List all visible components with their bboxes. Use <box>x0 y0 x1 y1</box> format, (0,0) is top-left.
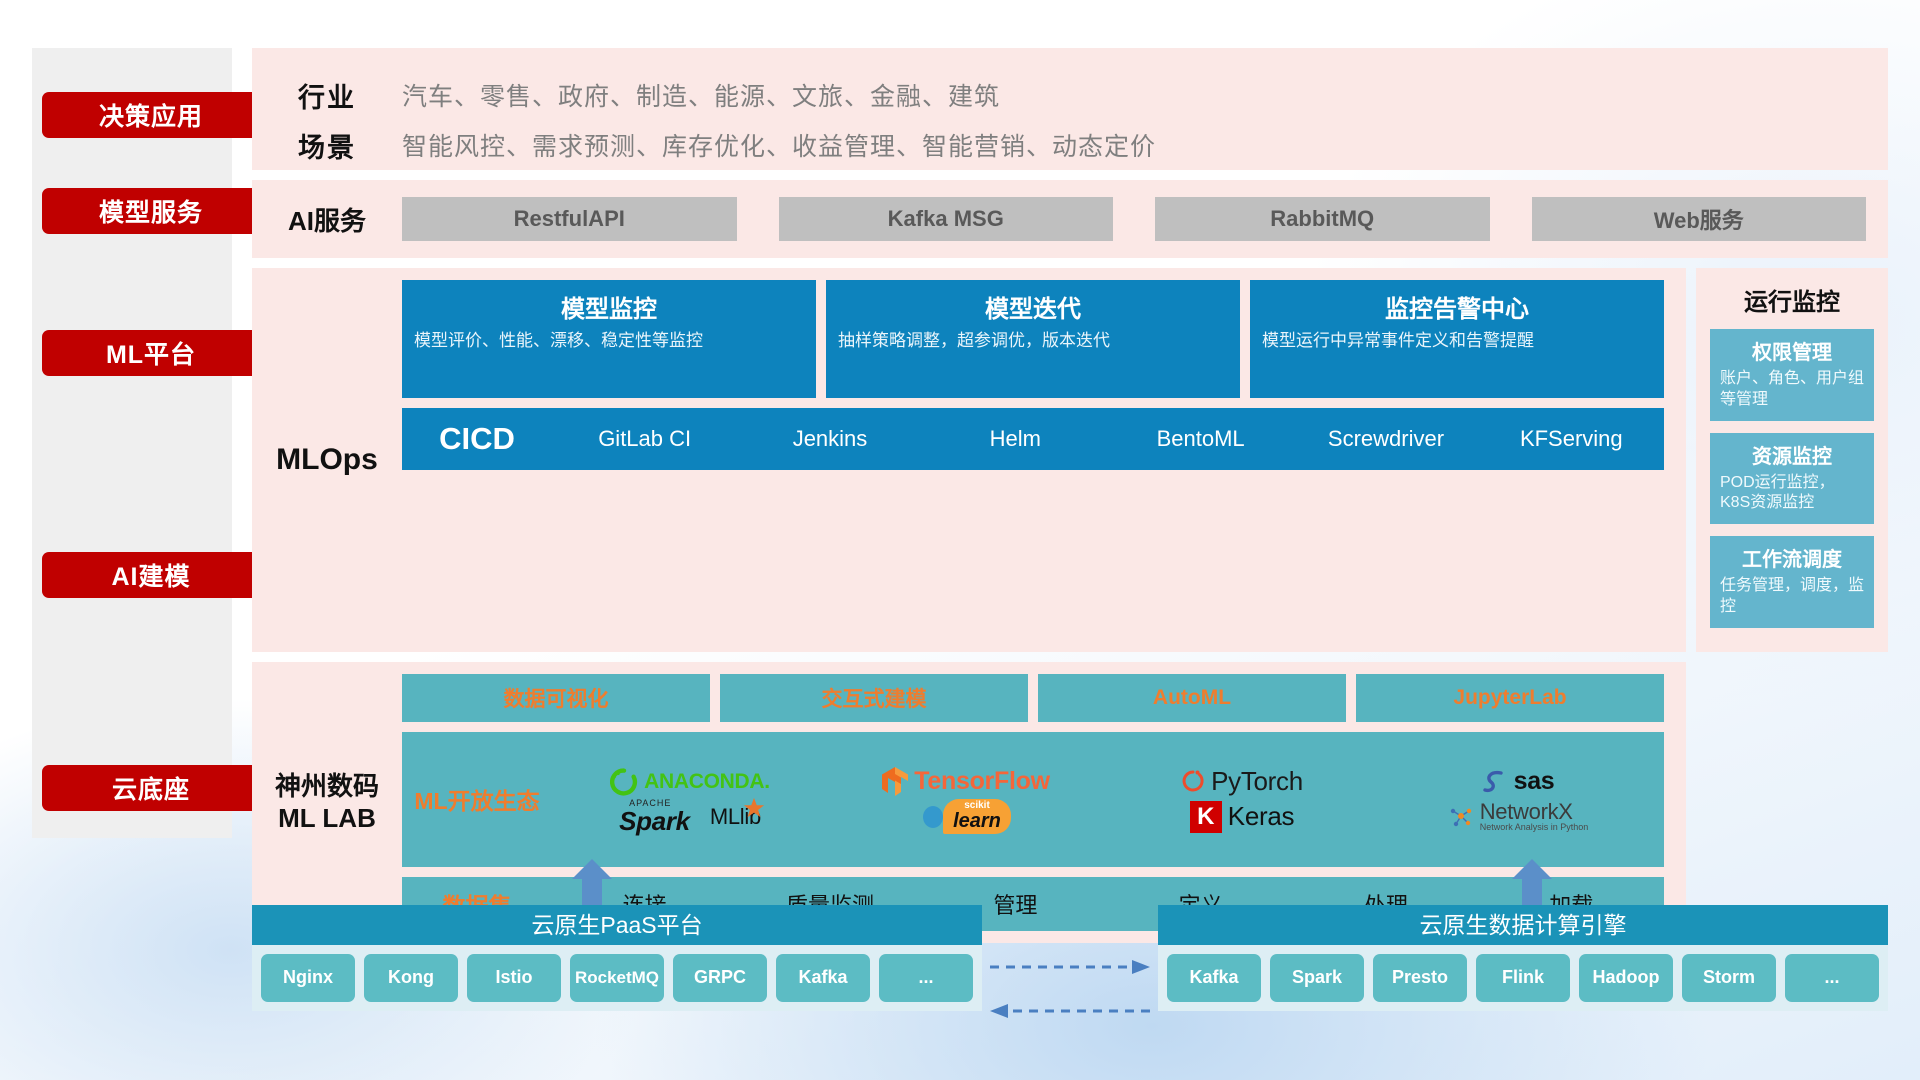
rail-tag-cloud-base[interactable]: 云底座 <box>42 765 260 811</box>
diagram-canvas: 决策应用 模型服务 ML平台 AI建模 云底座 行业 汽车、零售、政府、制造、能… <box>0 0 1920 1080</box>
tensorflow-logo: TensorFlow <box>882 767 1049 797</box>
cicd-item-jenkins[interactable]: Jenkins <box>737 408 922 455</box>
anaconda-logo: ANACONDA. <box>610 768 770 796</box>
chip-istio[interactable]: Istio <box>467 954 561 1002</box>
ai-service-list: RestfulAPI Kafka MSG RabbitMQ Web服务 <box>402 197 1888 241</box>
mlops-card-model-monitoring[interactable]: 模型监控 模型评价、性能、漂移、稳定性等监控 <box>402 280 816 398</box>
data-engine-title: 云原生数据计算引擎 <box>1158 905 1888 945</box>
runtime-monitor-title: 运行监控 <box>1710 282 1874 317</box>
pytorch-logo-text: PyTorch <box>1211 766 1303 797</box>
mlops-card-model-iteration[interactable]: 模型迭代 抽样策略调整，超参调优，版本迭代 <box>826 280 1240 398</box>
ecosystem-label: ML开放生态 <box>402 782 552 816</box>
tool-interactive-modeling[interactable]: 交互式建模 <box>720 674 1028 722</box>
spark-logo-text: Spark <box>619 808 690 834</box>
ai-service-label: AI服务 <box>252 201 402 238</box>
chip-flink[interactable]: Flink <box>1476 954 1570 1002</box>
scenario-row: 场景 智能风控、需求预测、库存优化、收益管理、智能营销、动态定价 <box>252 120 1888 170</box>
service-web[interactable]: Web服务 <box>1532 197 1867 241</box>
sas-mark-icon <box>1482 768 1508 796</box>
rail-tag-label: 决策应用 <box>99 97 203 133</box>
sas-logo-text: sas <box>1514 767 1555 796</box>
arrow-up-icon <box>570 857 614 905</box>
tool-jupyterlab[interactable]: JupyterLab <box>1356 674 1664 722</box>
keras-mark-icon: K <box>1190 801 1222 833</box>
runtime-monitor-panel: 运行监控 权限管理 账户、角色、用户组等管理 资源监控 POD运行监控，K8S资… <box>1696 268 1888 652</box>
card-desc: 账户、角色、用户组等管理 <box>1720 369 1864 411</box>
ml-lab-tool-list: 数据可视化 交互式建模 AutoML JupyterLab <box>402 674 1664 722</box>
card-desc: 模型评价、性能、漂移、稳定性等监控 <box>414 330 804 353</box>
card-title: 模型迭代 <box>838 289 1228 324</box>
service-restful-api[interactable]: RestfulAPI <box>402 197 737 241</box>
paas-chip-list: Nginx Kong Istio RocketMQ GRPC Kafka ... <box>252 945 982 1011</box>
arrow-up-icon <box>1510 857 1554 905</box>
data-engine-chip-list: Kafka Spark Presto Flink Hadoop Storm ..… <box>1158 945 1888 1011</box>
cloud-native-data-engine-block: 云原生数据计算引擎 Kafka Spark Presto Flink Hadoo… <box>1158 905 1888 1011</box>
chip-nginx[interactable]: Nginx <box>261 954 355 1002</box>
model-service-band: AI服务 RestfulAPI Kafka MSG RabbitMQ Web服务 <box>252 180 1888 258</box>
card-desc: POD运行监控，K8S资源监控 <box>1720 473 1864 515</box>
monitor-card-resource[interactable]: 资源监控 POD运行监控，K8S资源监控 <box>1710 433 1874 525</box>
cicd-item-screwdriver[interactable]: Screwdriver <box>1293 408 1478 455</box>
rail-tag-decision-app[interactable]: 决策应用 <box>42 92 260 138</box>
cicd-label: CICD <box>402 408 552 470</box>
chip-rocketmq[interactable]: RocketMQ <box>570 954 664 1002</box>
ecosystem-logo-grid: ANACONDA. TensorFlow <box>552 764 1664 834</box>
tool-data-visualization[interactable]: 数据可视化 <box>402 674 710 722</box>
networkx-logo-text: NetworkX <box>1480 801 1589 823</box>
ml-lab-label-line2: ML LAB <box>252 802 402 835</box>
scikit-blue-blob-icon <box>921 804 945 830</box>
mlops-content: 模型监控 模型评价、性能、漂移、稳定性等监控 模型迭代 抽样策略调整，超参调优，… <box>402 280 1686 470</box>
chip-kafka-data[interactable]: Kafka <box>1167 954 1261 1002</box>
card-desc: 模型运行中异常事件定义和告警提醒 <box>1262 330 1652 353</box>
keras-logo-text: Keras <box>1228 801 1294 832</box>
industry-key: 行业 <box>252 76 402 115</box>
pytorch-mark-icon <box>1181 768 1205 796</box>
cicd-item-gitlab-ci[interactable]: GitLab CI <box>552 408 737 470</box>
ai-modeling-band: 神州数码 ML LAB 数据可视化 交互式建模 AutoML JupyterLa… <box>252 662 1888 943</box>
spark-star-icon <box>743 797 765 819</box>
rail-tag-label: 云底座 <box>112 770 190 806</box>
scenario-key: 场景 <box>252 126 402 165</box>
cloud-base-row: 云原生PaaS平台 Nginx Kong Istio RocketMQ GRPC… <box>252 905 1888 1040</box>
keras-logo: K Keras <box>1190 801 1294 833</box>
industry-row: 行业 汽车、零售、政府、制造、能源、文旅、金融、建筑 <box>252 70 1888 120</box>
service-kafka-msg[interactable]: Kafka MSG <box>779 197 1114 241</box>
ml-lab-panel: 神州数码 ML LAB 数据可视化 交互式建模 AutoML JupyterLa… <box>252 662 1686 943</box>
mlops-card-alert-center[interactable]: 监控告警中心 模型运行中异常事件定义和告警提醒 <box>1250 280 1664 398</box>
chip-kong[interactable]: Kong <box>364 954 458 1002</box>
rail-tag-label: AI建模 <box>111 557 190 593</box>
bidirectional-dashed-arrows-icon <box>982 945 1158 1035</box>
tensorflow-mark-icon <box>882 767 908 797</box>
card-title: 模型监控 <box>414 289 804 324</box>
monitor-card-workflow[interactable]: 工作流调度 任务管理，调度，监控 <box>1710 536 1874 628</box>
tool-automl[interactable]: AutoML <box>1038 674 1346 722</box>
chip-hadoop[interactable]: Hadoop <box>1579 954 1673 1002</box>
service-rabbitmq[interactable]: RabbitMQ <box>1155 197 1490 241</box>
chip-storm[interactable]: Storm <box>1682 954 1776 1002</box>
scikit-learn-logo: scikit learn <box>921 799 1011 834</box>
pytorch-logo: PyTorch <box>1181 766 1303 797</box>
rail-tag-label: ML平台 <box>106 335 196 371</box>
ml-lab-label: 神州数码 ML LAB <box>252 770 402 835</box>
card-desc: 任务管理，调度，监控 <box>1720 576 1864 618</box>
mlops-panel: MLOps 模型监控 模型评价、性能、漂移、稳定性等监控 模型迭代 抽样策略调整… <box>252 268 1686 652</box>
anaconda-logo-text: ANACONDA. <box>644 770 770 794</box>
keras-mark-letter: K <box>1197 803 1214 831</box>
chip-more[interactable]: ... <box>879 954 973 1002</box>
rail-tag-model-service[interactable]: 模型服务 <box>42 188 260 234</box>
card-title: 权限管理 <box>1720 336 1864 365</box>
chip-spark[interactable]: Spark <box>1270 954 1364 1002</box>
paas-title: 云原生PaaS平台 <box>252 905 982 945</box>
cicd-row: CICD GitLab CI Jenkins Helm BentoML Scre… <box>402 408 1664 470</box>
cicd-item-bentoml[interactable]: BentoML <box>1108 408 1293 455</box>
chip-grpc[interactable]: GRPC <box>673 954 767 1002</box>
sas-logo: sas <box>1482 767 1555 796</box>
mlops-card-list: 模型监控 模型评价、性能、漂移、稳定性等监控 模型迭代 抽样策略调整，超参调优，… <box>402 280 1664 398</box>
anaconda-mark-icon <box>610 768 638 796</box>
networkx-subtitle: Network Analysis in Python <box>1480 823 1589 832</box>
card-title: 工作流调度 <box>1720 543 1864 572</box>
rail-tag-ai-modeling[interactable]: AI建模 <box>42 552 260 598</box>
ai-modeling-right-spacer <box>1696 662 1888 943</box>
rail-tag-ml-platform[interactable]: ML平台 <box>42 330 260 376</box>
ml-platform-band: MLOps 模型监控 模型评价、性能、漂移、稳定性等监控 模型迭代 抽样策略调整… <box>252 268 1888 652</box>
paas-up-arrow-icon <box>570 857 614 905</box>
scenario-value: 智能风控、需求预测、库存优化、收益管理、智能营销、动态定价 <box>402 127 1156 163</box>
layer-rail <box>32 48 232 838</box>
rail-tag-label: 模型服务 <box>99 193 203 229</box>
decision-application-band: 行业 汽车、零售、政府、制造、能源、文旅、金融、建筑 场景 智能风控、需求预测、… <box>252 48 1888 170</box>
cloud-native-paas-block: 云原生PaaS平台 Nginx Kong Istio RocketMQ GRPC… <box>252 905 982 1011</box>
chip-presto[interactable]: Presto <box>1373 954 1467 1002</box>
chip-more-data[interactable]: ... <box>1785 954 1879 1002</box>
monitor-card-permission[interactable]: 权限管理 账户、角色、用户组等管理 <box>1710 329 1874 421</box>
ml-open-ecosystem: ML开放生态 ANACONDA. <box>402 732 1664 867</box>
tensorflow-logo-text: TensorFlow <box>914 767 1049 796</box>
chip-kafka[interactable]: Kafka <box>776 954 870 1002</box>
card-title: 资源监控 <box>1720 440 1864 469</box>
cicd-item-kfserving[interactable]: KFServing <box>1479 408 1664 455</box>
learn-text: learn <box>953 811 1001 831</box>
networkx-mark-icon <box>1448 804 1474 830</box>
mlops-label: MLOps <box>252 443 402 477</box>
spark-mllib-logo: APACHE Spark MLlib <box>619 799 761 834</box>
data-engine-up-arrow-icon <box>1510 857 1554 905</box>
industry-value: 汽车、零售、政府、制造、能源、文旅、金融、建筑 <box>402 77 1000 113</box>
card-title: 监控告警中心 <box>1262 289 1652 324</box>
card-desc: 抽样策略调整，超参调优，版本迭代 <box>838 330 1228 353</box>
ml-lab-label-line1: 神州数码 <box>252 770 402 803</box>
cicd-item-helm[interactable]: Helm <box>923 408 1108 470</box>
main-column: 行业 汽车、零售、政府、制造、能源、文旅、金融、建筑 场景 智能风控、需求预测、… <box>252 48 1888 943</box>
networkx-logo: NetworkX Network Analysis in Python <box>1448 801 1589 832</box>
